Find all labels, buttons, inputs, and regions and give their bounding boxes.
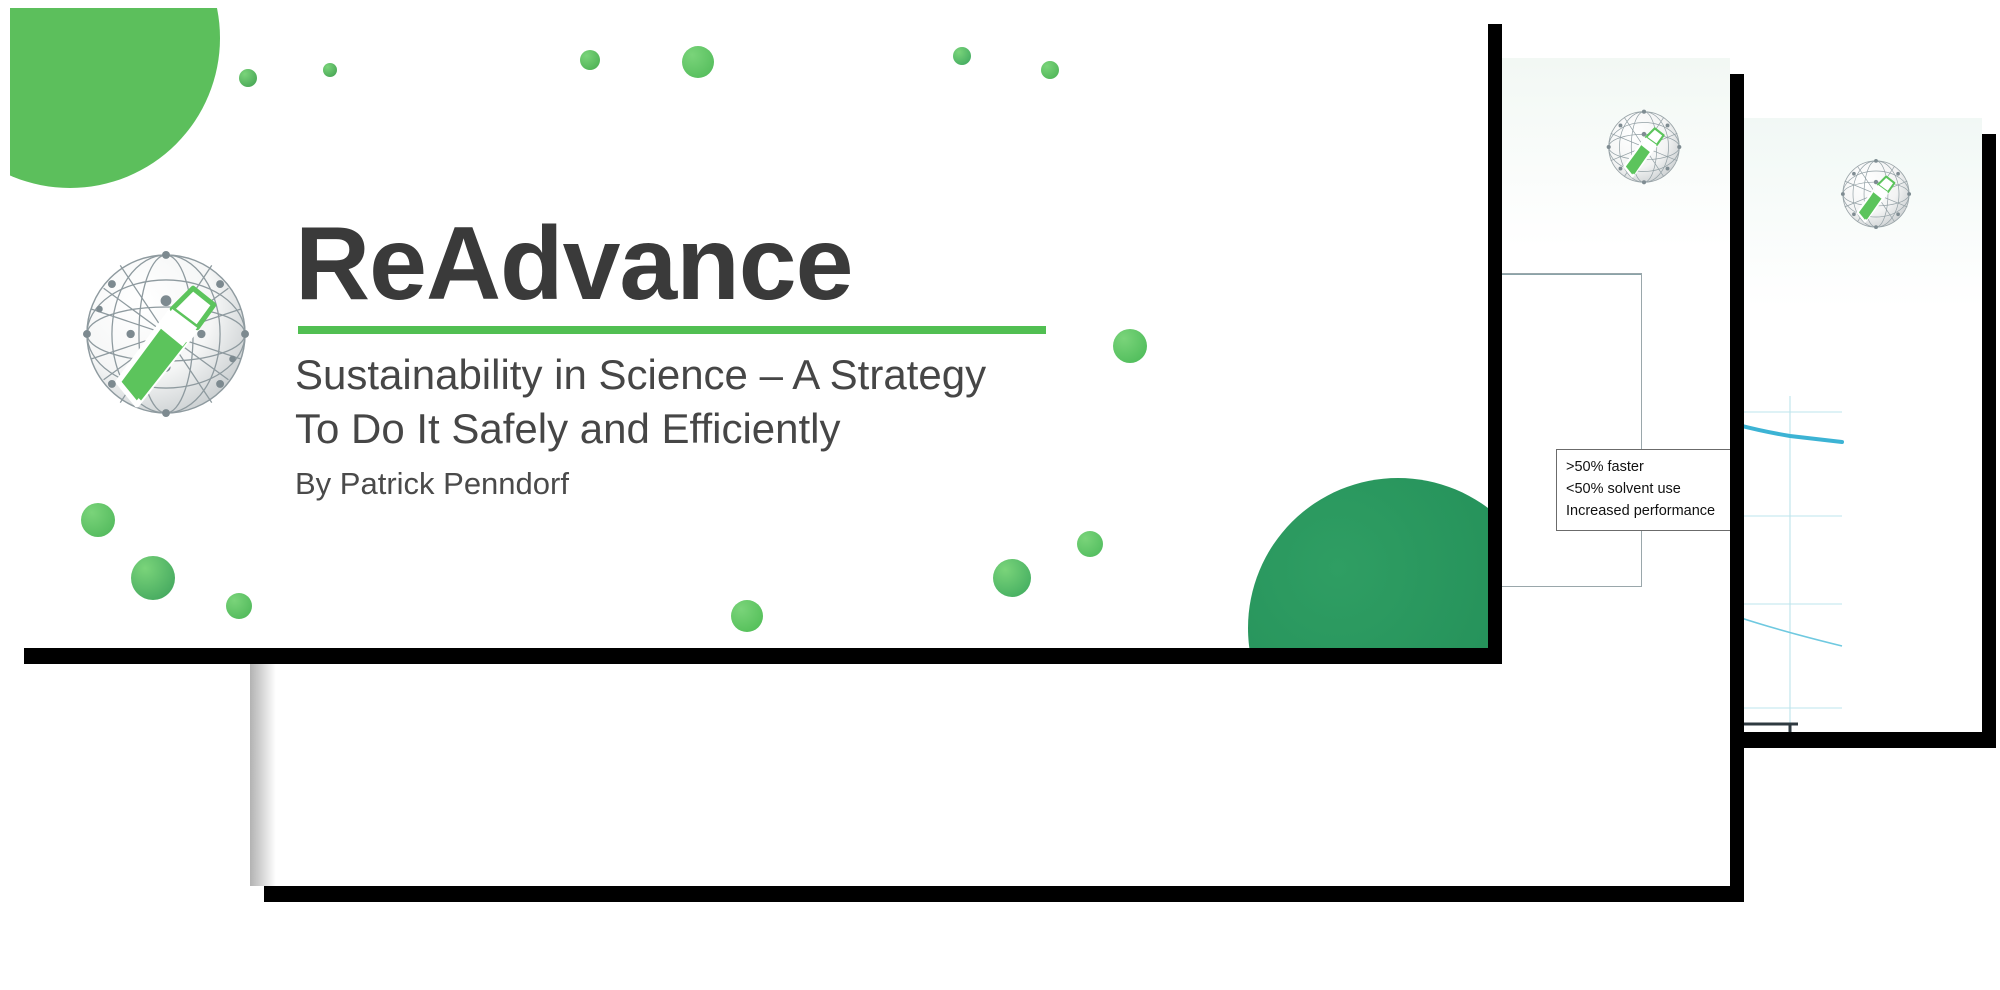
readvance-globe-vial-logo: [1595, 98, 1693, 196]
decorative-dot: [731, 600, 763, 632]
decorative-corner-bottom-right: [1248, 478, 1488, 648]
decorative-dot: [1041, 61, 1059, 79]
decorative-dot: [1113, 329, 1147, 363]
decorative-dot: [953, 47, 971, 65]
slide-1-title-card[interactable]: ReAdvance Sustainability in Science – A …: [10, 8, 1488, 648]
decorative-dot: [81, 503, 115, 537]
author-byline: By Patrick Penndorf: [295, 466, 569, 502]
decorative-dot: [682, 46, 714, 78]
decorative-dot: [323, 63, 337, 77]
decorative-corner-top-left: [10, 8, 220, 188]
presentation-thumbnail-stack: Speed and resolution combined: [0, 0, 2000, 990]
page-subtitle: Sustainability in Science – A Strategy T…: [295, 348, 1075, 456]
slide-3-xtick-7: 7: [1782, 730, 1791, 732]
readvance-globe-vial-logo: [1830, 148, 1922, 240]
subtitle-line-1: Sustainability in Science – A Strategy: [295, 348, 1075, 402]
decorative-dot: [580, 50, 600, 70]
readvance-globe-vial-logo: [62, 230, 270, 438]
page-title: ReAdvance: [295, 212, 852, 316]
decorative-dot: [131, 556, 175, 600]
decorative-dot: [226, 593, 252, 619]
decorative-dot: [239, 69, 257, 87]
slide-1-content: ReAdvance Sustainability in Science – A …: [10, 8, 1488, 648]
callout-line-faster: >50% faster: [1566, 457, 1730, 479]
title-accent-rule: [298, 326, 1046, 334]
subtitle-line-2: To Do It Safely and Efficiently: [295, 402, 1075, 456]
callout-line-solvent: <50% solvent use: [1566, 479, 1730, 501]
decorative-dot: [993, 559, 1031, 597]
decorative-dot: [1077, 531, 1103, 557]
